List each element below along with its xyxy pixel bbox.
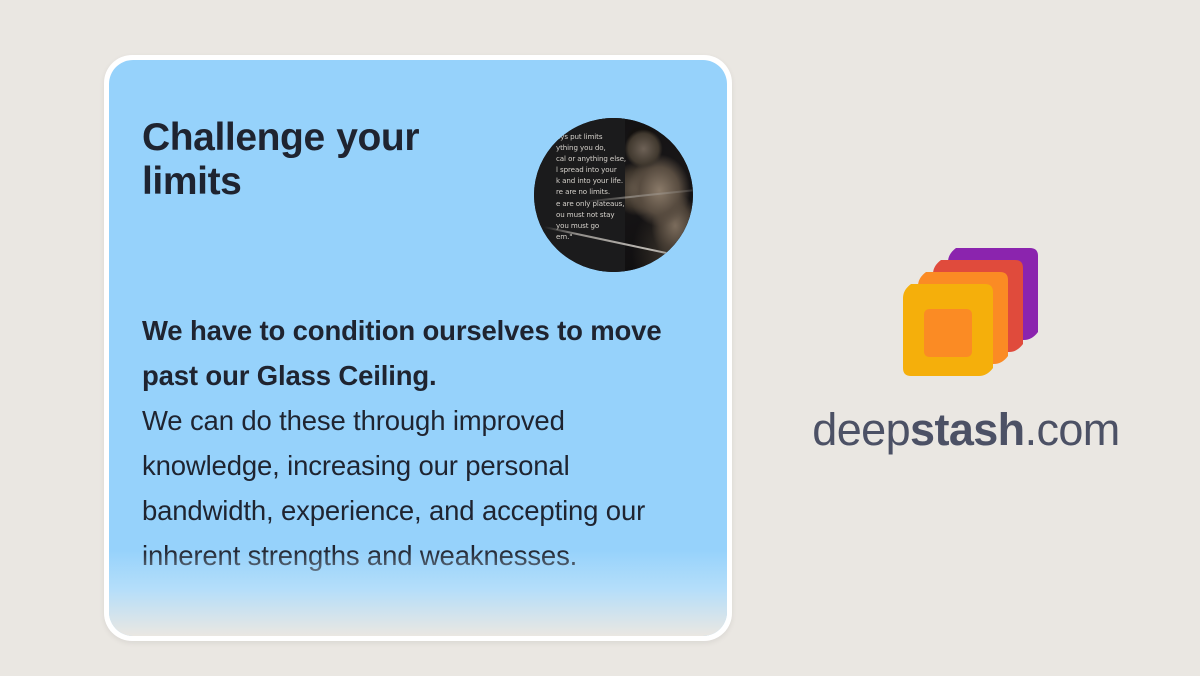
card-surface: Challenge your limits ays put limits yth…	[109, 60, 727, 636]
wordmark-bold: stash	[910, 404, 1025, 455]
card-body: We have to condition ourselves to move p…	[142, 308, 707, 578]
brand-wordmark: deepstash.com	[786, 404, 1146, 456]
card-title: Challenge your limits	[142, 116, 512, 203]
idea-card[interactable]: Challenge your limits ays put limits yth…	[104, 55, 732, 641]
brand-block: deepstash.com	[786, 236, 1146, 456]
wordmark-prefix: deep	[812, 404, 910, 455]
thumb-photo: ays put limits ything you do, cal or any…	[534, 118, 693, 272]
card-body-lead: We have to condition ourselves to move p…	[142, 308, 707, 398]
wordmark-suffix: .com	[1025, 404, 1120, 455]
bruce-lee-quote-photo-icon[interactable]: ays put limits ything you do, cal or any…	[534, 118, 693, 272]
card-content: Challenge your limits ays put limits yth…	[109, 60, 727, 636]
deepstash-stacked-cards-logo-icon	[886, 236, 1046, 382]
card-body-rest: We can do these through improved knowled…	[142, 398, 707, 578]
thumb-quote-text: ays put limits ything you do, cal or any…	[556, 131, 652, 242]
